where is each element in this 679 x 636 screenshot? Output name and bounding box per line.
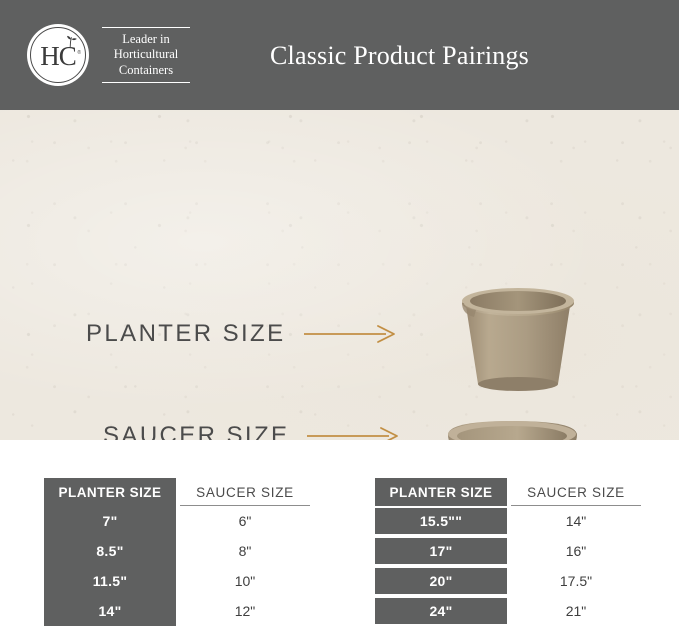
cell-planter-size: 20" [375, 568, 507, 594]
saucer-illustration [440, 415, 585, 440]
table-row: 15.5"" 14" [375, 506, 645, 536]
size-table-large: PLANTER SIZE SAUCER SIZE 15.5"" 14" 17" … [375, 478, 645, 626]
cell-planter-size: 24" [375, 598, 507, 624]
cell-saucer-size: 6" [176, 506, 314, 536]
cell-planter-size: 7" [44, 506, 176, 536]
page-title: Classic Product Pairings [0, 41, 679, 71]
right-arrow-icon [304, 325, 396, 343]
header-bar: HC ® Leader in Horticultural Containers … [0, 0, 679, 110]
column-header-planter-size: PLANTER SIZE [44, 478, 176, 506]
cell-planter-size: 15.5"" [375, 508, 507, 534]
planter-illustration [448, 280, 588, 400]
cell-saucer-size: 16" [507, 536, 645, 566]
table-row: 8.5" 8" [44, 536, 314, 566]
table-row: 11.5" 10" [44, 566, 314, 596]
callout-saucer-label: SAUCER SIZE [103, 422, 289, 440]
hero-panel: PLANTER SIZE SAUCER SIZE [0, 110, 679, 440]
callout-planter-label: PLANTER SIZE [86, 320, 286, 348]
cell-saucer-size: 17.5" [507, 566, 645, 596]
size-table-small: PLANTER SIZE SAUCER SIZE 7" 6" 8.5" 8" 1… [44, 478, 314, 626]
table-row: 24" 21" [375, 596, 645, 626]
table-row: 14" 12" [44, 596, 314, 626]
table-header-row: PLANTER SIZE SAUCER SIZE [375, 478, 645, 506]
cell-planter-size: 14" [44, 596, 176, 626]
callout-planter-size: PLANTER SIZE [86, 320, 396, 348]
table-body: 7" 6" 8.5" 8" 11.5" 10" 14" 12" [44, 506, 314, 626]
table-body: 15.5"" 14" 17" 16" 20" 17.5" 24" 21" [375, 506, 645, 626]
cell-saucer-size: 14" [507, 506, 645, 536]
callout-saucer-size: SAUCER SIZE [103, 422, 399, 440]
table-header-row: PLANTER SIZE SAUCER SIZE [44, 478, 314, 506]
column-header-saucer-size: SAUCER SIZE [507, 478, 645, 506]
cell-saucer-size: 21" [507, 596, 645, 626]
table-row: 20" 17.5" [375, 566, 645, 596]
column-header-saucer-size: SAUCER SIZE [176, 478, 314, 506]
table-row: 7" 6" [44, 506, 314, 536]
cell-saucer-size: 12" [176, 596, 314, 626]
cell-saucer-size: 10" [176, 566, 314, 596]
column-header-planter-size: PLANTER SIZE [375, 478, 507, 506]
cell-saucer-size: 8" [176, 536, 314, 566]
table-row: 17" 16" [375, 536, 645, 566]
cell-planter-size: 8.5" [44, 536, 176, 566]
right-arrow-icon [307, 427, 399, 440]
size-chart-tables: PLANTER SIZE SAUCER SIZE 7" 6" 8.5" 8" 1… [0, 478, 679, 636]
cell-planter-size: 17" [375, 538, 507, 564]
cell-planter-size: 11.5" [44, 566, 176, 596]
